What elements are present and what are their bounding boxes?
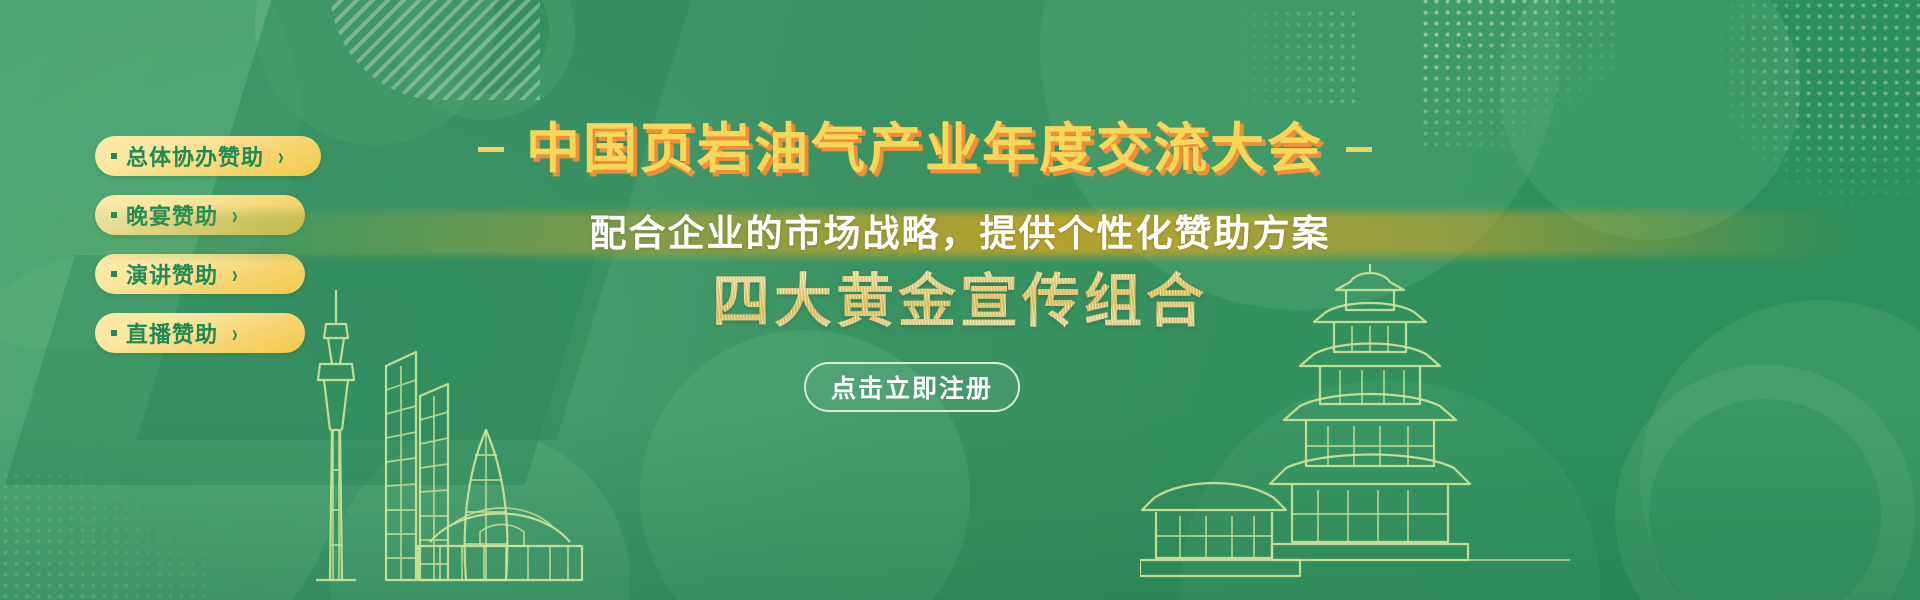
dash-right-icon: [1346, 147, 1372, 152]
bg-circle-7: [1640, 300, 1920, 600]
dash-left-icon: [478, 147, 504, 152]
subtitle: 配合企业的市场战略，提供个性化赞助方案: [0, 205, 1920, 263]
bg-halftone-dots-3: [1205, 8, 1355, 103]
title-row: 中国页岩油气产业年度交流大会: [450, 122, 1400, 176]
bg-diagonal-stripes: [330, 0, 540, 100]
bg-halftone-dots-1: [1420, 0, 1620, 146]
bg-ring-2: [1615, 365, 1915, 600]
bg-halftone-dots-2: [1715, 0, 1920, 210]
sponsorship-banner: 总体协办赞助 › 晚宴赞助 › 演讲赞助 › 直播赞助 › 中国页岩油气产业年度…: [0, 0, 1920, 600]
sponsor-item-label: 总体协办赞助: [126, 140, 264, 172]
bullet-square-icon: [111, 153, 117, 159]
page-title: 中国页岩油气产业年度交流大会: [526, 122, 1324, 176]
bg-bottom-shade: [0, 410, 1920, 600]
bg-circle-6: [1500, 0, 1800, 240]
headline: 四大黄金宣传组合: [0, 268, 1920, 335]
bg-ring-1: [395, 0, 575, 120]
sponsor-item-overall-coorganizer[interactable]: 总体协办赞助 ›: [95, 136, 321, 176]
register-button[interactable]: 点击立即注册: [804, 362, 1020, 412]
chevron-right-icon: ›: [278, 144, 284, 169]
register-button-label: 点击立即注册: [831, 369, 993, 405]
headline-text: 四大黄金宣传组合: [712, 267, 1208, 335]
bg-halftone-dots-4: [0, 470, 210, 600]
